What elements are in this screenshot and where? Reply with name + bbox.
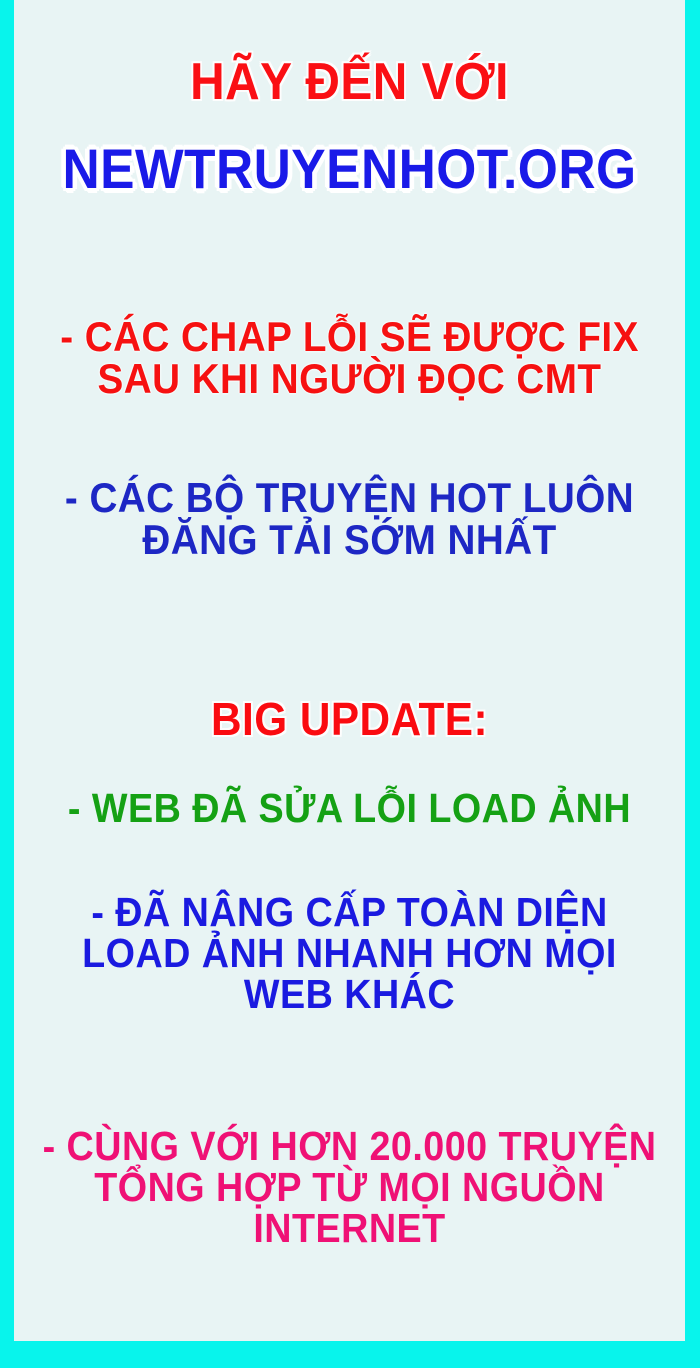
hot-series-text: - CÁC BỘ TRUYỆN HOT LUÔN ĐĂNG TẢI SỚM NH…	[14, 477, 685, 561]
headline-line: HÃY ĐẾN VỚI	[41, 56, 658, 108]
image-load-fix-line: - WEB ĐÃ SỬA LỖI LOAD ẢNH	[41, 788, 658, 829]
upgrade-notice-line: - ĐÃ NÂNG CẤP TOÀN DIỆN LOAD ẢNH NHANH H…	[41, 892, 658, 1015]
fix-notice-text: - CÁC CHAP LỖI SẼ ĐƯỢC FIX SAU KHI NGƯỜI…	[14, 316, 685, 400]
site-domain-line[interactable]: NEWTRUYENHOT.ORG	[41, 141, 658, 197]
library-count-text: - CÙNG VỚI HƠN 20.000 TRUYỆN TỔNG HỢP TỪ…	[14, 1126, 685, 1249]
hot-series-line: - CÁC BỘ TRUYỆN HOT LUÔN ĐĂNG TẢI SỚM NH…	[41, 477, 658, 561]
site-domain-text[interactable]: NEWTRUYENHOT.ORG	[14, 141, 685, 197]
fix-notice-line: - CÁC CHAP LỖI SẼ ĐƯỢC FIX SAU KHI NGƯỜI…	[41, 316, 658, 400]
announcement-banner: HÃY ĐẾN VỚI NEWTRUYENHOT.ORG - CÁC CHAP …	[0, 0, 700, 1368]
library-count-line: - CÙNG VỚI HƠN 20.000 TRUYỆN TỔNG HỢP TỪ…	[41, 1126, 658, 1249]
upgrade-notice-text: - ĐÃ NÂNG CẤP TOÀN DIỆN LOAD ẢNH NHANH H…	[14, 892, 685, 1015]
big-update-heading-line: BIG UPDATE:	[41, 696, 658, 742]
image-load-fix-text: - WEB ĐÃ SỬA LỖI LOAD ẢNH	[14, 788, 685, 829]
headline-text: HÃY ĐẾN VỚI	[14, 56, 685, 108]
banner-content-panel: HÃY ĐẾN VỚI NEWTRUYENHOT.ORG - CÁC CHAP …	[14, 0, 685, 1341]
big-update-heading: BIG UPDATE:	[14, 696, 685, 742]
